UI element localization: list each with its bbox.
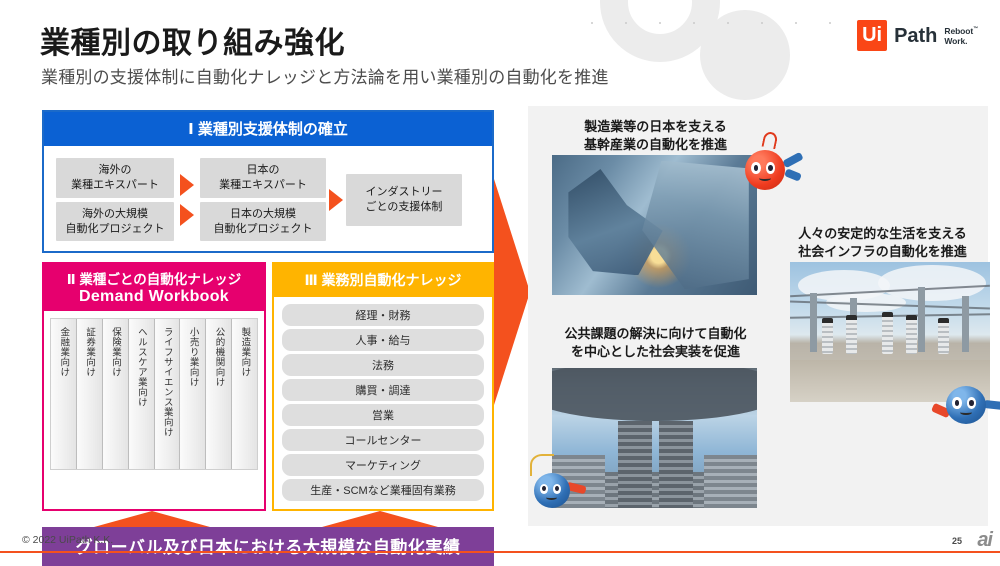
function-item: 生産・SCMなど業種固有業務 [282,479,484,501]
knowledge-boxes-row: Ⅱ 業種ごとの自動化ナレッジ Demand Workbook 金融業向け 証券業… [42,262,494,511]
ai-logo: ai [977,530,992,550]
book-spine: ヘルスケア業向け [129,319,155,469]
eye-icon [967,397,977,408]
box-two-heading-line2: Demand Workbook [44,288,264,306]
eye-icon [766,162,776,174]
flow-diagram: 海外の 業種エキスパート 海外の大規模 自動化プロジェクト 日本の 業種エキスパ… [56,158,482,241]
book-spine: 証券業向け [77,319,103,469]
flow-column-japan: 日本の 業種エキスパート 日本の大規模 自動化プロジェクト [200,158,326,241]
logo-ui-mark: Ui [857,20,887,51]
decorative-circle-small [700,10,790,100]
chip-industry-support: インダストリー ごとの支援体制 [346,174,462,226]
decorative-dot-grid [575,10,895,46]
mouth-icon [960,410,972,415]
eye-icon [751,162,761,174]
box-three-heading: Ⅲ 業務別自動化ナレッジ [274,264,492,297]
function-item: マーケティング [282,454,484,476]
mouth-icon [546,495,557,500]
book-label: 金融業向け [59,327,69,469]
book-label: ヘルスケア業向け [136,327,146,469]
triangle-right-icon [180,204,194,226]
function-list: 経理・財務 人事・給与 法務 購買・調達 営業 コールセンター マーケティング … [274,297,492,509]
function-item: 法務 [282,354,484,376]
book-label: 公的機関向け [214,327,224,469]
logo-tagline: Reboot™ Work. [944,27,978,45]
robot-mascot-blue-infrastructure [946,386,986,424]
mouth-icon [759,175,771,181]
box-one-support-structure: Ⅰ 業種別支援体制の確立 海外の 業種エキスパート 海外の大規模 自動化プロジェ… [42,110,494,253]
chip-overseas-project: 海外の大規模 自動化プロジェクト [56,202,174,242]
book-label: 保険業向け [110,327,120,469]
eye-icon [540,484,549,495]
banner-connectors [42,511,494,527]
logo-path-text: Path [894,26,937,46]
robot-head [745,150,785,190]
box-two-heading-line1: Ⅱ 業種ごとの自動化ナレッジ [44,268,264,288]
function-item: 人事・給与 [282,329,484,351]
caption-public-sector: 公共課題の解決に向けて自動化 を中心とした社会実装を促進 [548,325,763,360]
logo-tagline-line2: Work. [944,36,967,46]
book-shelf: 金融業向け 証券業向け 保険業向け ヘルスケア業向け ライフサイエンス業向け 小… [50,318,258,470]
eye-icon [553,484,562,495]
box-two-industry-knowledge: Ⅱ 業種ごとの自動化ナレッジ Demand Workbook 金融業向け 証券業… [42,262,266,511]
book-spine: 製造業向け [232,319,257,469]
book-spine: ライフサイエンス業向け [155,319,181,469]
function-item: 営業 [282,404,484,426]
ai-logo-text: ai [977,529,992,551]
chip-japan-project: 日本の大規模 自動化プロジェクト [200,202,326,242]
book-label: 証券業向け [85,327,95,469]
left-column: Ⅰ 業種別支援体制の確立 海外の 業種エキスパート 海外の大規模 自動化プロジェ… [42,110,494,566]
flow-column-overseas: 海外の 業種エキスパート 海外の大規模 自動化プロジェクト [56,158,174,241]
book-spine: 公的機関向け [206,319,232,469]
function-item: 経理・財務 [282,304,484,326]
function-item: 購買・調達 [282,379,484,401]
arrow-group-one [177,174,197,226]
robot-head [534,473,570,508]
chip-japan-expert: 日本の 業種エキスパート [200,158,326,198]
robot-head [946,386,986,424]
robot-mascot-blue-public [534,473,570,508]
footer-rule [0,551,1000,553]
function-item: コールセンター [282,429,484,451]
car-factory-robot-photo [552,155,757,295]
page-number: 25 [952,536,962,546]
box-three-function-knowledge: Ⅲ 業務別自動化ナレッジ 経理・財務 人事・給与 法務 購買・調達 営業 コール… [272,262,494,511]
box-two-heading: Ⅱ 業種ごとの自動化ナレッジ Demand Workbook [44,264,264,311]
book-label: 製造業向け [240,327,250,469]
triangle-right-icon [180,174,194,196]
book-label: 小売り業向け [188,327,198,469]
page-subtitle: 業種別の支援体制に自動化ナレッジと方法論を用い業種別の自動化を推進 [41,63,609,88]
chip-overseas-expert: 海外の 業種エキスパート [56,158,174,198]
arrow-right-large-icon [494,179,530,405]
power-substation-photo [790,262,990,402]
eye-icon [952,397,962,408]
uipath-logo: Ui Path Reboot™ Work. [857,20,978,51]
book-spine: 小売り業向け [180,319,206,469]
decorative-arc-large [600,0,720,62]
robot-mascot-red [745,150,785,190]
trademark-icon: ™ [973,27,978,33]
box-one-heading: Ⅰ 業種別支援体制の確立 [44,112,492,146]
triangle-up-icon [94,511,210,527]
book-spine: 金融業向け [51,319,77,469]
triangle-right-icon [329,189,343,211]
box-one-body: 海外の 業種エキスパート 海外の大規模 自動化プロジェクト 日本の 業種エキスパ… [44,146,492,251]
book-spine: 保険業向け [103,319,129,469]
caption-manufacturing: 製造業等の日本を支える 基幹産業の自動化を推進 [553,118,758,153]
book-label: ライフサイエンス業向け [162,327,172,469]
caption-infrastructure: 人々の安定的な生活を支える 社会インフラの自動化を推進 [770,225,995,260]
copyright-text: © 2022 UiPath K.K. [22,534,113,546]
page-title: 業種別の取り組み強化 [40,18,345,62]
triangle-up-icon [322,511,438,527]
